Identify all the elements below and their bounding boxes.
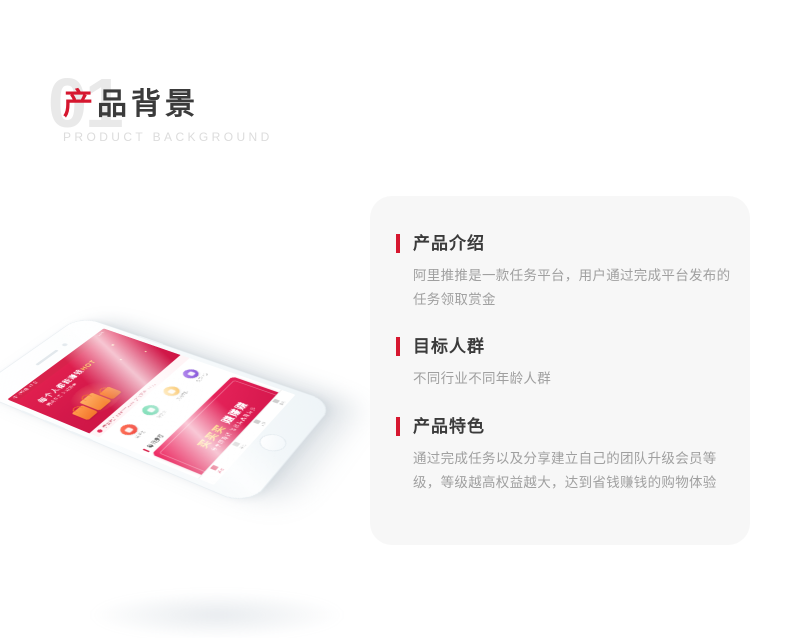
page-title: 产品背景: [63, 90, 199, 120]
sparkle-icon: [120, 359, 123, 360]
hero-title-hot-badge: HOT: [78, 359, 98, 371]
section-accent-bar: [142, 448, 149, 452]
promo-title-right: 赚赚赚: [219, 400, 251, 425]
app-grid-item-label: 赚赏金: [156, 410, 169, 419]
block-body-text: 通过完成任务以及分享建立自己的团队升级会员等级，等级越高权益越大，达到省钱赚钱的…: [396, 447, 732, 494]
sparkle-icon: [111, 344, 115, 346]
info-panel-content: 产品介绍 阿里推推是一款任务平台，用户通过完成平台发布的任务领取赏金 目标人群 …: [396, 234, 732, 494]
block-heading-text: 产品介绍: [413, 235, 485, 252]
heading-accent-bar: [396, 337, 400, 356]
block-body-text: 阿里推推是一款任务平台，用户通过完成平台发布的任务领取赏金: [396, 264, 732, 311]
phone-shadow: [92, 592, 342, 638]
page-subtitle: PRODUCT BACKGROUND: [63, 130, 273, 144]
info-block-target-audience: 目标人群 不同行业不同年龄人群: [396, 337, 732, 391]
info-panel: 产品介绍 阿里推推是一款任务平台，用户通过完成平台发布的任务领取赏金 目标人群 …: [370, 196, 750, 545]
team-tab-icon: [253, 419, 261, 424]
page-title-accent-char: 产: [63, 88, 97, 121]
block-heading-text: 产品特色: [413, 418, 485, 435]
phone-device: 中国移动 ull 중 100% 每个人都能赚钱HOT 完成任务 领取赏金: [0, 316, 334, 505]
block-heading: 目标人群: [396, 337, 732, 356]
block-heading: 产品特色: [396, 417, 732, 436]
info-block-product-features: 产品特色 通过完成任务以及分享建立自己的团队升级会员等级，等级越高权益越大，达到…: [396, 417, 732, 494]
heading-accent-bar: [396, 417, 400, 436]
section-header: 01 产品背景 PRODUCT BACKGROUND: [45, 70, 375, 160]
page-title-rest: 品背景: [97, 88, 199, 121]
block-heading: 产品介绍: [396, 234, 732, 253]
phone-mockup: 中国移动 ull 중 100% 每个人都能赚钱HOT 完成任务 领取赏金: [40, 240, 350, 430]
app-grid-item-label: 做任务: [134, 430, 147, 440]
page-root: 01 产品背景 PRODUCT BACKGROUND 中国移动 ull 중 10…: [0, 0, 800, 576]
sparkle-icon: [144, 351, 146, 352]
info-block-product-intro: 产品介绍 阿里推推是一款任务平台，用户通过完成平台发布的任务领取赏金: [396, 234, 732, 311]
heading-accent-bar: [396, 234, 400, 253]
block-body-text: 不同行业不同年龄人群: [396, 367, 732, 391]
block-heading-text: 目标人群: [413, 338, 485, 355]
